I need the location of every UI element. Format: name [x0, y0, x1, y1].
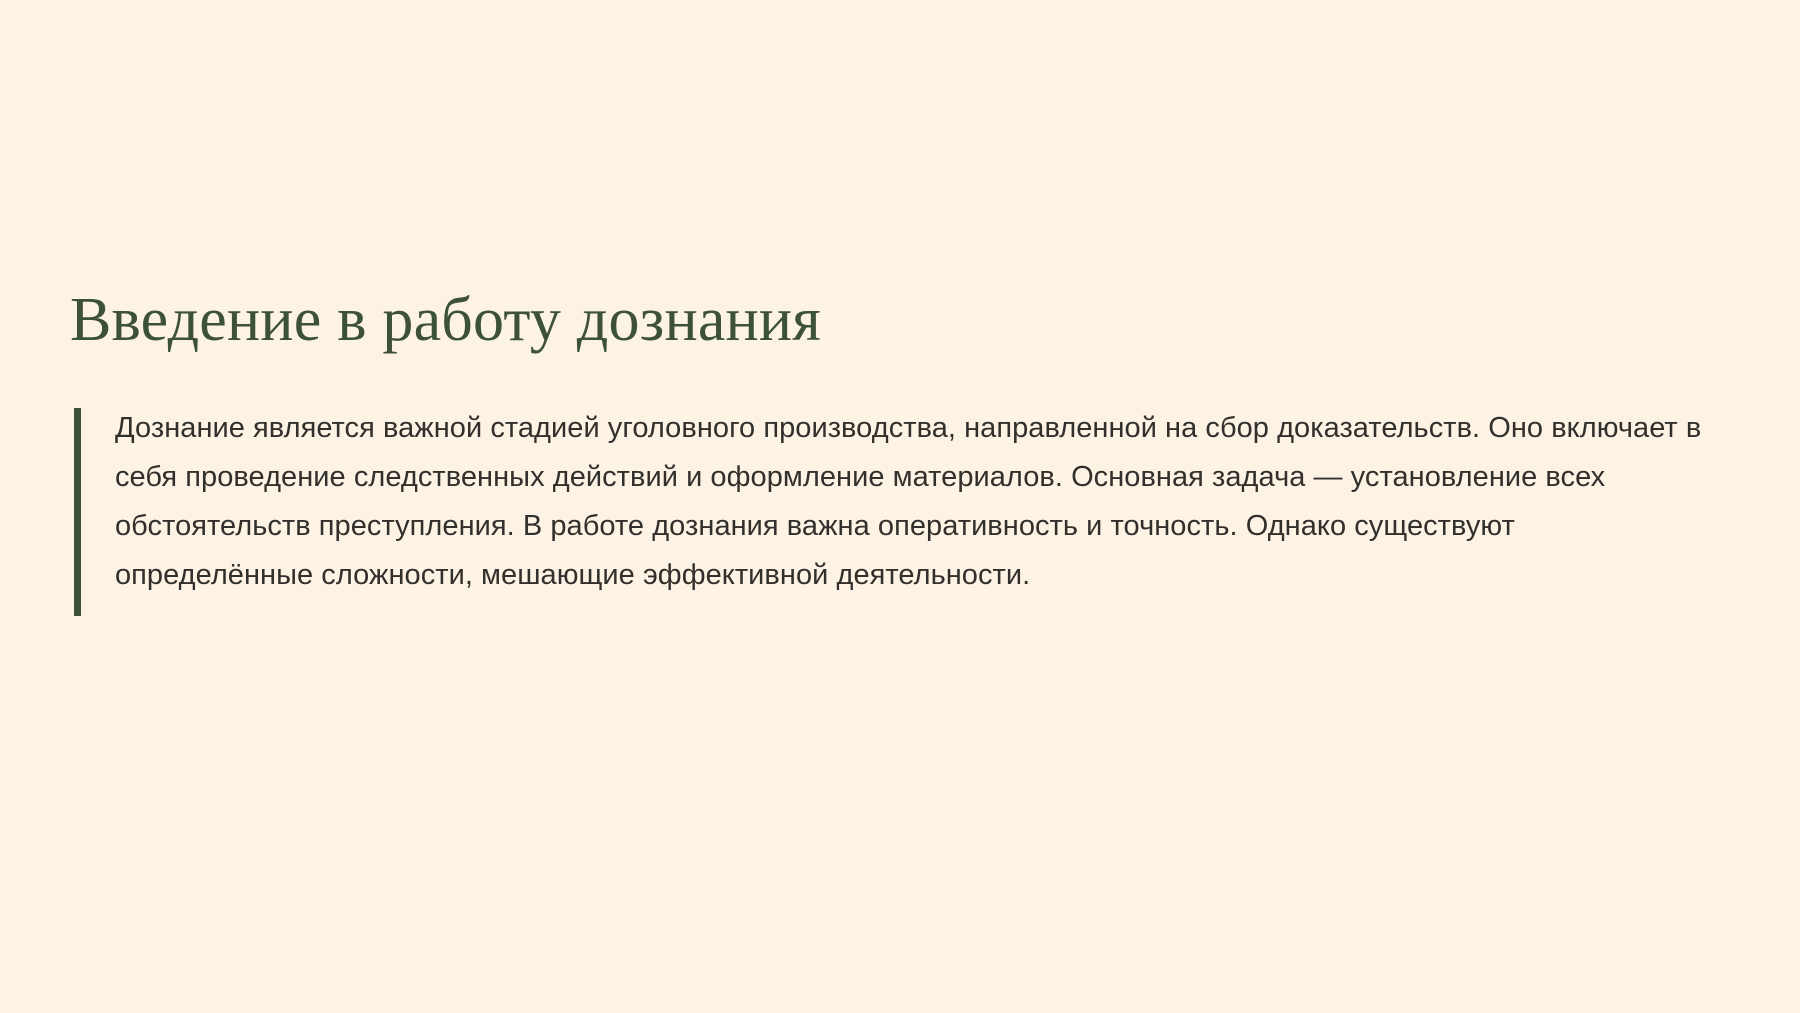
body-paragraph: Дознание является важной стадией уголовн…	[115, 404, 1710, 600]
body-quote-block: Дознание является важной стадией уголовн…	[70, 404, 1710, 600]
page-title: Введение в работу дознания	[70, 285, 1730, 356]
slide-canvas: Введение в работу дознания Дознание явля…	[0, 0, 1800, 1013]
accent-bar	[74, 408, 81, 616]
slide-content: Введение в работу дознания Дознание явля…	[70, 285, 1730, 600]
